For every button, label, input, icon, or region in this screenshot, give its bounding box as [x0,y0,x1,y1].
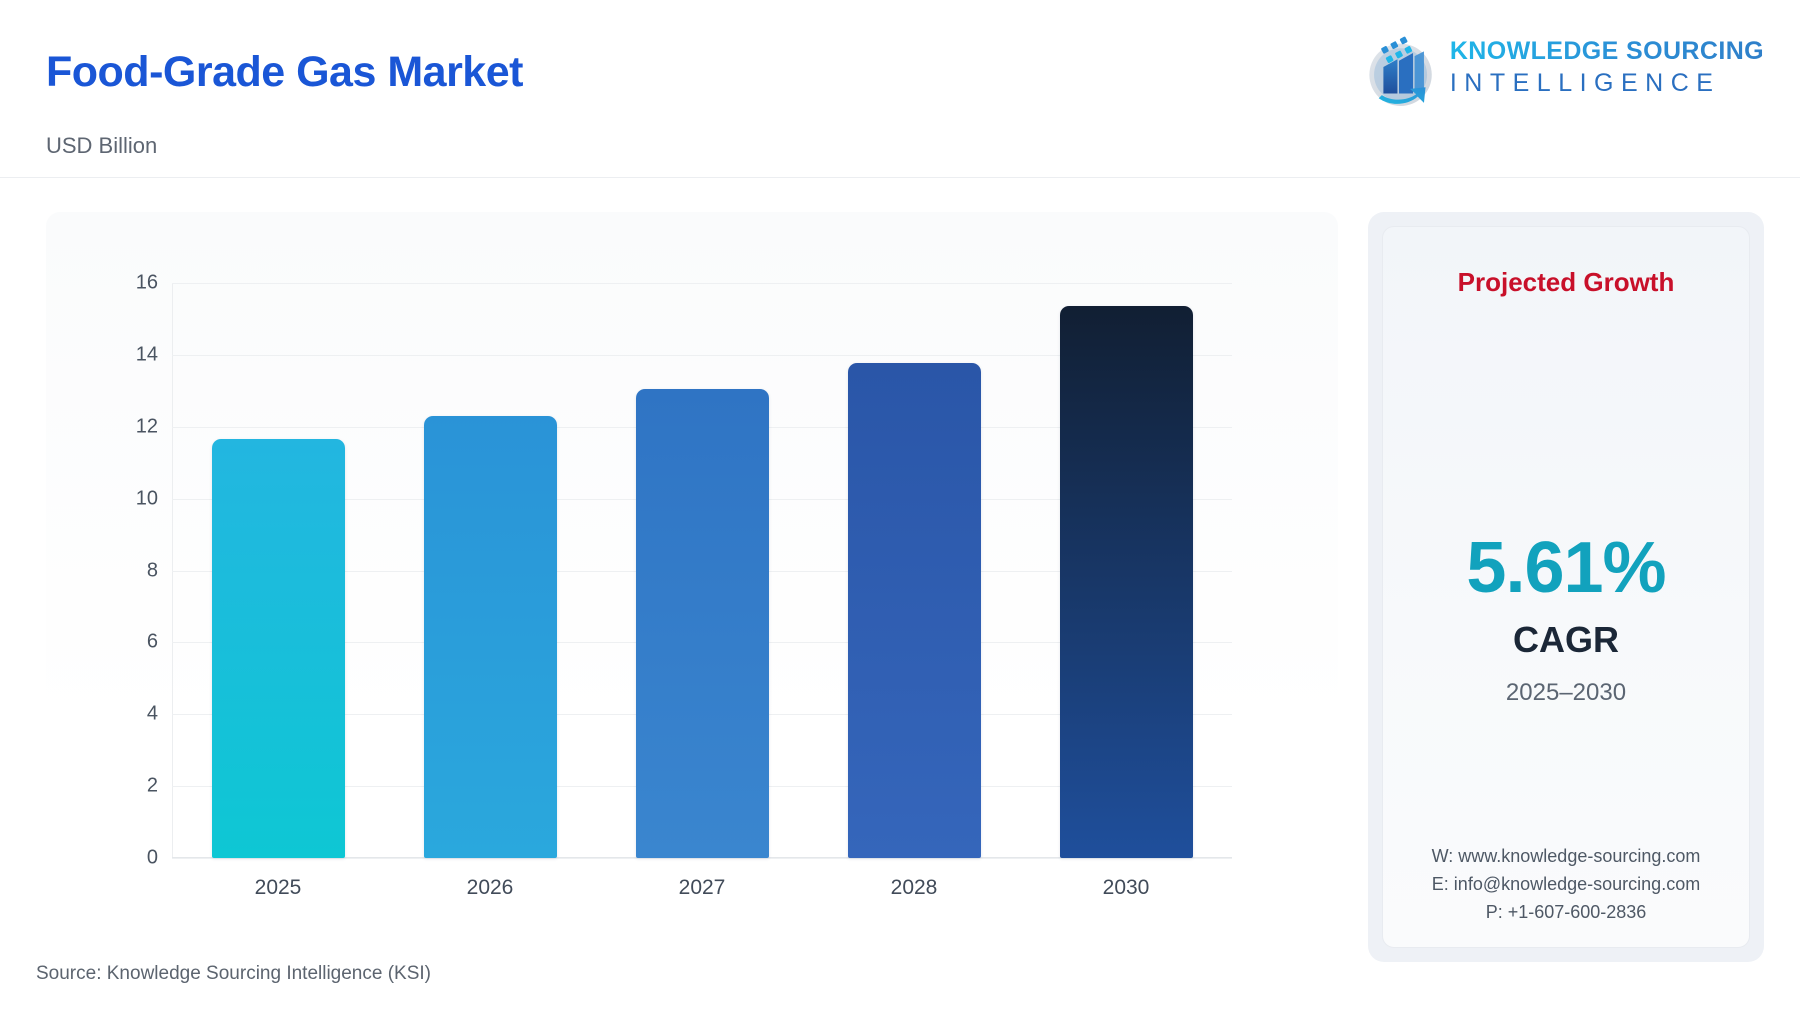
plot-area: 0246810121416 20252026202720282030 [172,283,1232,858]
x-axis-tick-label: 2025 [255,876,302,900]
x-axis-tick-label: 2030 [1103,876,1150,900]
bar-slot: 2027 [596,283,808,858]
y-axis-tick-label: 8 [147,559,158,582]
y-axis-tick-label: 4 [147,703,158,726]
bar-2026[interactable] [424,416,557,858]
bar-2030[interactable] [1060,306,1193,858]
knowledge-sourcing-globe-logo-icon [1360,26,1438,108]
contact-website[interactable]: W: www.knowledge-sourcing.com [1383,843,1749,871]
brand-logo: KNOWLEDGE SOURCING INTELLIGENCE [1360,26,1764,108]
logo-line-intelligence: INTELLIGENCE [1450,71,1764,96]
bar-slot: 2025 [172,283,384,858]
logo-line-knowledge-sourcing: KNOWLEDGE SOURCING [1450,39,1764,64]
contact-block: W: www.knowledge-sourcing.com E: info@kn… [1383,843,1749,927]
page-subtitle: USD Billion [46,133,157,159]
x-axis-tick-label: 2028 [891,876,938,900]
page-title: Food-Grade Gas Market [46,48,523,97]
bar-slot: 2030 [1020,283,1232,858]
cagr-period: 2025–2030 [1383,679,1749,707]
bar-series: 20252026202720282030 [172,283,1232,858]
x-axis-tick-label: 2026 [467,876,514,900]
cagr-value: 5.61% [1383,527,1749,609]
projected-growth-card: Projected Growth 5.61% CAGR 2025–2030 W:… [1368,212,1764,962]
y-axis-tick-label: 16 [136,272,158,295]
projected-growth-card-inner: Projected Growth 5.61% CAGR 2025–2030 W:… [1382,226,1750,948]
y-axis-tick-label: 10 [136,487,158,510]
growth-card-title: Projected Growth [1383,267,1749,298]
header: Food-Grade Gas Market USD Billion [0,0,1800,178]
gridline [172,858,1232,859]
bar-2027[interactable] [636,389,769,858]
bar-2028[interactable] [848,363,981,858]
cagr-label: CAGR [1383,619,1749,661]
infographic-page: Food-Grade Gas Market USD Billion [0,0,1800,1012]
y-axis-tick-label: 14 [136,343,158,366]
contact-email[interactable]: E: info@knowledge-sourcing.com [1383,871,1749,899]
y-axis-tick-label: 6 [147,631,158,654]
bar-slot: 2028 [808,283,1020,858]
bar-2025[interactable] [212,439,345,858]
y-axis-tick-label: 2 [147,775,158,798]
y-axis-tick-label: 12 [136,415,158,438]
source-note: Source: Knowledge Sourcing Intelligence … [36,963,431,985]
y-axis-tick-label: 0 [147,847,158,870]
chart-panel: 0246810121416 20252026202720282030 [46,212,1338,947]
contact-phone[interactable]: P: +1-607-600-2836 [1383,899,1749,927]
bar-slot: 2026 [384,283,596,858]
x-axis-tick-label: 2027 [679,876,726,900]
